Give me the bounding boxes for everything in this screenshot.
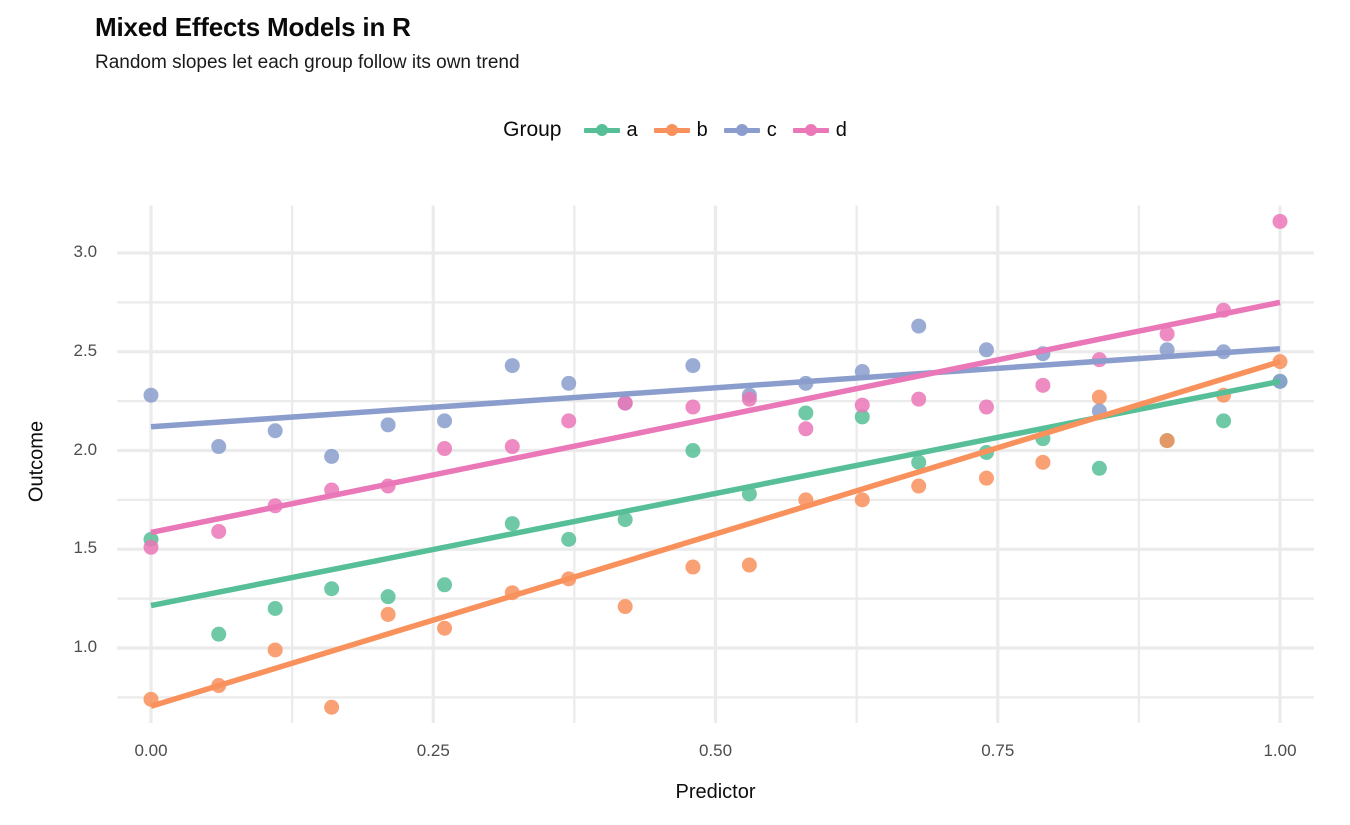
x-tick-label: 0.50 [666,741,766,761]
data-point [1160,433,1175,448]
data-point [685,400,700,415]
data-point [561,376,576,391]
data-point [561,413,576,428]
data-point [324,449,339,464]
data-point [381,589,396,604]
y-tick-label: 2.5 [12,341,97,361]
data-point [798,421,813,436]
data-point [1092,390,1107,405]
data-point [437,413,452,428]
x-tick-label: 0.75 [948,741,1048,761]
y-tick-label: 1.0 [12,637,97,657]
x-tick-label: 1.00 [1230,741,1330,761]
data-point [144,540,159,555]
data-point [268,601,283,616]
y-axis-label: Outcome [26,392,49,532]
data-point [979,400,994,415]
data-point [685,443,700,458]
data-point [268,423,283,438]
data-point [211,627,226,642]
data-point [979,342,994,357]
data-point [742,392,757,407]
page-subtitle: Random slopes let each group follow its … [95,52,520,74]
data-point [685,560,700,575]
data-point [381,607,396,622]
data-point [505,439,520,454]
y-tick-label: 3.0 [12,242,97,262]
data-point [437,577,452,592]
page-title: Mixed Effects Models in R [95,12,411,43]
data-point [1035,378,1050,393]
y-tick-label: 1.5 [12,538,97,558]
data-point [855,492,870,507]
chart-figure: Mixed Effects Models in R Random slopes … [0,0,1350,825]
data-point [268,642,283,657]
data-point [1216,413,1231,428]
data-point [561,532,576,547]
data-point [437,621,452,636]
data-point [381,417,396,432]
data-point [618,599,633,614]
x-tick-label: 0.25 [383,741,483,761]
data-point [855,398,870,413]
data-point [437,441,452,456]
data-point [211,524,226,539]
data-point [911,392,926,407]
data-point [505,358,520,373]
data-point [1273,214,1288,229]
data-point [979,471,994,486]
plot-panel [0,0,1350,825]
data-point [742,558,757,573]
data-point [618,396,633,411]
data-point [1035,455,1050,470]
data-point [911,319,926,334]
data-point [211,439,226,454]
data-point [685,358,700,373]
data-point [324,581,339,596]
data-point [144,388,159,403]
x-axis-label: Predictor [566,781,866,804]
data-point [324,700,339,715]
data-point [1092,461,1107,476]
data-point [911,479,926,494]
x-tick-label: 0.00 [101,741,201,761]
data-point [798,405,813,420]
data-point [505,516,520,531]
